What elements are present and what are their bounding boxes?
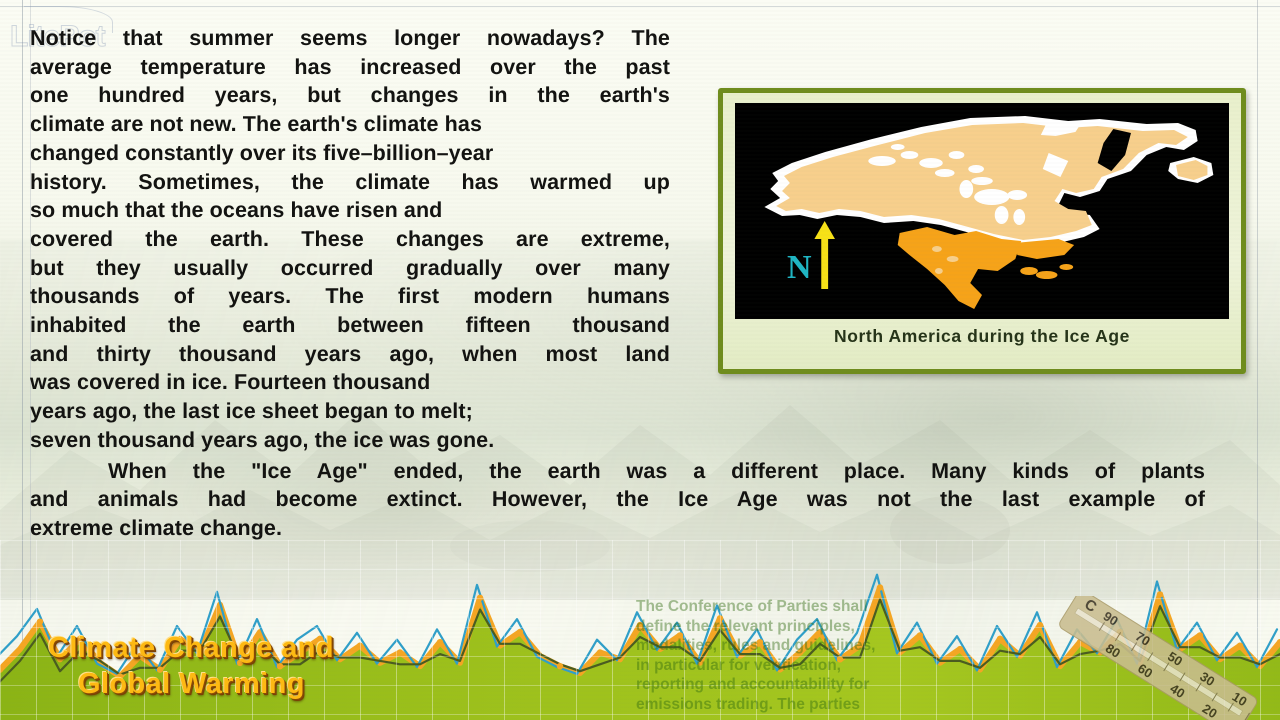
text-line: average temperature has increased over t… [30,53,670,82]
chart-data-point [957,646,963,652]
text-line: Notice that summer seems longer nowadays… [30,24,670,53]
text-line: and animals had become extinct. However,… [30,485,1205,514]
chart-data-point [877,584,883,590]
treaty-text-line: modalities, rules and guidelines, [636,636,936,656]
chart-data-point [597,649,603,655]
chart-data-point [517,629,523,635]
map-image: N [735,103,1229,319]
slide-canvas: LitePot Notice that summer seems longer … [0,0,1280,720]
text-line: extreme climate change. [30,514,1205,543]
map-figure: N North America during the Ice Age [718,88,1246,374]
chart-data-point [37,619,43,625]
treaty-background-text: The Conference of Parties shall define t… [636,597,936,714]
text-line: was covered in ice. Fourteen thousand [30,368,670,397]
text-line: When the "Ice Age" ended, the earth was … [30,457,1205,486]
text-line: seven thousand years ago, the ice was go… [30,426,670,455]
compass-north-label: N [787,251,812,285]
text-line: but they usually occurred gradually over… [30,254,670,283]
title-line-2: Global Warming [48,666,468,702]
text-line: thousands of years. The first modern hum… [30,282,670,311]
text-line: so much that the oceans have risen and [30,196,670,225]
paragraph-2: When the "Ice Age" ended, the earth was … [30,457,1240,543]
slide-title: Climate Change and Global Warming [48,630,468,702]
text-line: changed constantly over its five–billion… [30,139,670,168]
compass-rose: N [781,225,827,307]
text-line: one hundred years, but changes in the ea… [30,81,670,110]
treaty-text-line: reporting and accountability for [636,675,936,695]
chart-data-point [997,636,1003,642]
chart-data-point [557,663,563,669]
thermometer-icon: 9080706050403020100 C [1042,596,1272,720]
text-line: history. Sometimes, the climate has warm… [30,168,670,197]
text-line: climate are not new. The earthʹs climate… [30,110,670,139]
chart-data-point [477,595,483,601]
treaty-text-line: The Conference of Parties shall [636,597,936,617]
page-frame-top-rule [0,6,1280,7]
title-line-1: Climate Change and [48,630,468,666]
text-line: and thirty thousand years ago, when most… [30,340,670,369]
treaty-text-line: emissions trading. The parties [636,695,936,715]
treaty-text-line: define the relevant principles, [636,617,936,637]
text-line: inhabited the earth between fifteen thou… [30,311,670,340]
text-line: years ago, the last ice sheet began to m… [30,397,670,426]
map-caption: North America during the Ice Age [735,326,1229,347]
treaty-text-line: in particular for verification, [636,656,936,676]
text-line: covered the earth. These changes are ext… [30,225,670,254]
